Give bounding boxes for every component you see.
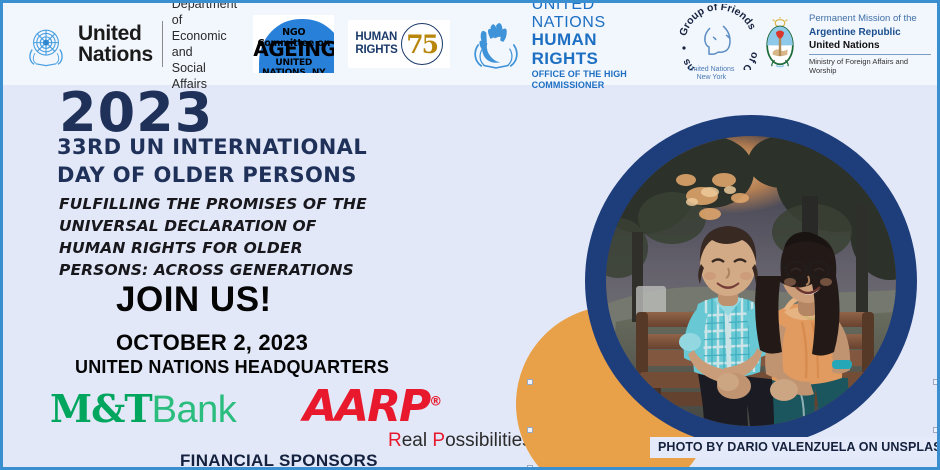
aarp-slogan: Real Possibilities xyxy=(388,430,532,452)
aarp-slogan-p: P xyxy=(432,430,445,451)
headline-line-2: DAY OF OLDER PERSONS xyxy=(57,162,367,190)
selection-handle[interactable] xyxy=(527,379,533,385)
mt-bank-word: Bank xyxy=(152,389,237,431)
logo-permanent-mission-argentina: Permanent Mission of the Argentine Repub… xyxy=(759,13,931,75)
ohchr-hand-dove-emblem-icon xyxy=(468,18,524,70)
gof-subtitle: United Nations New York xyxy=(676,66,747,84)
event-photo xyxy=(606,136,896,426)
financial-sponsors-label: FINANCIAL SPONSORS xyxy=(180,451,378,470)
aarp-slogan-ossibilities: ossibilities xyxy=(445,430,532,451)
logo-un-desa: United Nations Department of Economic an… xyxy=(9,3,237,85)
aarp-wordmark: AARP xyxy=(303,381,429,432)
logo-ngo-committee-on-ageing: NGO Committee on AGEING UNITED NATIONS, … xyxy=(253,15,334,73)
headline-line-1: 33RD UN INTERNATIONAL xyxy=(57,134,367,162)
argentina-coat-of-arms-icon xyxy=(759,17,801,71)
logo-un-human-rights: UNITED NATIONS HUMAN RIGHTS OFFICE OF TH… xyxy=(468,0,662,92)
ngo-line3: UNITED NATIONS, NY xyxy=(253,58,334,73)
aarp-slogan-eal: eal xyxy=(402,430,433,451)
logo-divider xyxy=(162,21,163,67)
logo-aarp: AARP® xyxy=(303,385,442,429)
logo-group-of-friends-of-older-persons: Group of Friends of Older Persons United… xyxy=(676,4,747,84)
desa-descriptor: Department of Economic and Social Affair… xyxy=(172,0,237,92)
two-women-on-bench-photo-illustration xyxy=(606,136,896,426)
group-of-friends-emblem-icon: Group of Friends of Older Persons xyxy=(676,4,762,70)
sponsor-logo-strip: United Nations Department of Economic an… xyxy=(3,3,937,85)
mt-bank-mark: M&T xyxy=(50,386,152,431)
ohchr-wordmark: UNITED NATIONS HUMAN RIGHTS OFFICE OF TH… xyxy=(532,0,662,92)
selection-handle[interactable] xyxy=(933,427,939,433)
page-title: 33RD UN INTERNATIONAL DAY OF OLDER PERSO… xyxy=(57,134,367,189)
logo-human-rights-75: HUMAN RIGHTS 75 xyxy=(348,20,449,68)
event-theme: FULFILLING THE PROMISES OF THE UNIVERSAL… xyxy=(59,193,379,281)
photo-ring-frame xyxy=(585,115,917,447)
aarp-slogan-r: R xyxy=(388,430,402,451)
argentina-mission-wordmark: Permanent Mission of the Argentine Repub… xyxy=(809,13,931,75)
logo-mt-bank: M&TBank xyxy=(50,390,236,429)
selection-handle[interactable] xyxy=(527,465,533,470)
un-globe-emblem-icon xyxy=(23,21,69,67)
event-venue: UNITED NATIONS HEADQUARTERS xyxy=(75,357,389,378)
selection-handle[interactable] xyxy=(933,379,939,385)
aarp-registered-mark: ® xyxy=(429,394,442,409)
svg-text:Group of Friends: Group of Friends xyxy=(677,4,758,38)
hr75-anniversary-mark: 75 xyxy=(401,23,443,65)
event-date: OCTOBER 2, 2023 xyxy=(116,330,308,356)
photo-credit: PHOTO BY DARIO VALENZUELA ON UNSPLASH xyxy=(650,437,940,458)
event-flyer-poster: United Nations Department of Economic an… xyxy=(0,0,940,470)
selection-handle[interactable] xyxy=(527,427,533,433)
hr75-wordmark: HUMAN RIGHTS xyxy=(355,31,397,57)
un-wordmark: United Nations xyxy=(78,23,153,66)
call-to-action: JOIN US! xyxy=(116,280,272,320)
argentina-rule xyxy=(809,54,931,55)
